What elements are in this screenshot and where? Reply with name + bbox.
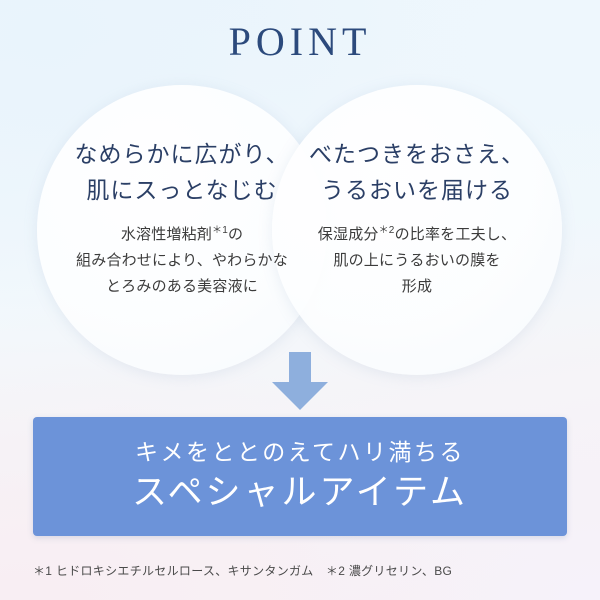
circle-left-body-lead: 水溶性増粘剤 <box>121 226 212 243</box>
arrow-down-icon <box>272 352 328 410</box>
circle-right-body-lead: 保湿成分 <box>318 226 379 243</box>
banner-subtitle: キメをととのえてハリ満ちる <box>135 439 465 467</box>
circle-left-footnote-marker: ＊1 <box>212 225 228 236</box>
poster-root: POINT なめらかに広がり、 肌にスっとなじむ 水溶性増粘剤＊1の 組み合わせ… <box>0 0 600 600</box>
arrow-shaft <box>289 352 311 384</box>
conclusion-banner: キメをととのえてハリ満ちる スペシャルアイテム <box>33 417 567 536</box>
banner-title: スペシャルアイテム <box>132 472 468 514</box>
arrow-head <box>272 382 328 410</box>
footnote-text: ＊1 ヒドロキシエチルセルロース、キサンタンガム ＊2 濃グリセリン、BG <box>33 562 452 579</box>
circle-right-body: 保湿成分＊2の比率を工夫し、 肌の上にうるおいの膜を 形成 <box>272 222 562 299</box>
circle-right-footnote-marker: ＊2 <box>379 225 395 236</box>
page-title: POINT <box>0 18 600 65</box>
circle-content-right: べたつきをおさえ、 うるおいを届ける 保湿成分＊2の比率を工夫し、 肌の上にうる… <box>272 85 562 300</box>
circle-right-heading: べたつきをおさえ、 うるおいを届ける <box>272 137 562 208</box>
